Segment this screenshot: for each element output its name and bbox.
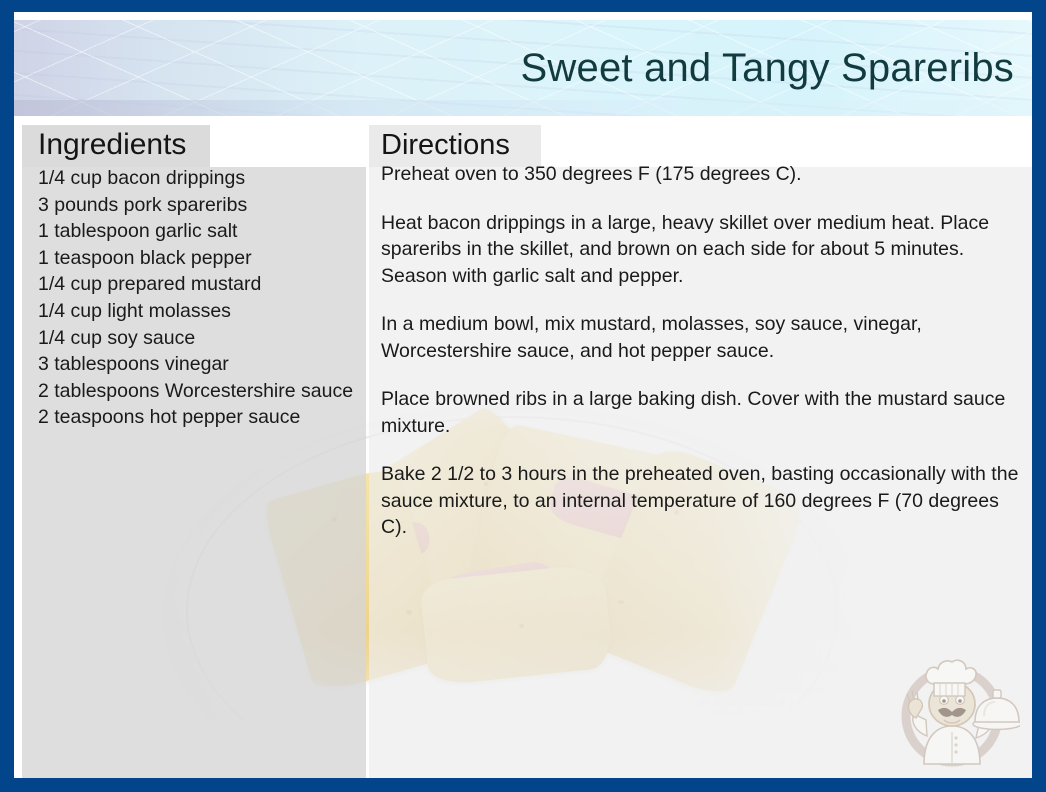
list-item: 2 teaspoons hot pepper sauce <box>38 404 354 431</box>
list-item: 1/4 cup soy sauce <box>38 325 354 352</box>
direction-step: Bake 2 1/2 to 3 hours in the preheated o… <box>381 461 1019 541</box>
list-item: 3 tablespoons vinegar <box>38 351 354 378</box>
list-item: 1/4 cup light molasses <box>38 298 354 325</box>
direction-step: In a medium bowl, mix mustard, molasses,… <box>381 311 1019 364</box>
directions-heading: Directions <box>381 129 510 162</box>
ingredients-heading: Ingredients <box>38 128 186 162</box>
direction-step: Place browned ribs in a large baking dis… <box>381 386 1019 439</box>
banner-bottom-shade <box>14 100 1032 116</box>
direction-step: Preheat oven to 350 degrees F (175 degre… <box>381 161 1019 188</box>
direction-step: Heat bacon drippings in a large, heavy s… <box>381 210 1019 290</box>
directions-steps: Preheat oven to 350 degrees F (175 degre… <box>381 161 1031 563</box>
list-item: 1 tablespoon garlic salt <box>38 218 354 245</box>
title-banner: Sweet and Tangy Spareribs <box>14 20 1032 116</box>
ingredients-panel: Ingredients 1/4 cup bacon drippings 3 po… <box>22 125 366 778</box>
page-title: Sweet and Tangy Spareribs <box>521 46 1014 91</box>
ingredients-list: 1/4 cup bacon drippings 3 pounds pork sp… <box>38 165 354 431</box>
list-item: 3 pounds pork spareribs <box>38 192 354 219</box>
recipe-slide: Sweet and Tangy Spareribs Ingredients 1/… <box>0 0 1046 792</box>
list-item: 2 tablespoons Worcestershire sauce <box>38 378 354 405</box>
list-item: 1 teaspoon black pepper <box>38 245 354 272</box>
slide-content-area: Sweet and Tangy Spareribs Ingredients 1/… <box>14 12 1032 778</box>
chef-with-cloche-logo <box>894 646 1020 768</box>
list-item: 1/4 cup bacon drippings <box>38 165 354 192</box>
list-item: 1/4 cup prepared mustard <box>38 271 354 298</box>
